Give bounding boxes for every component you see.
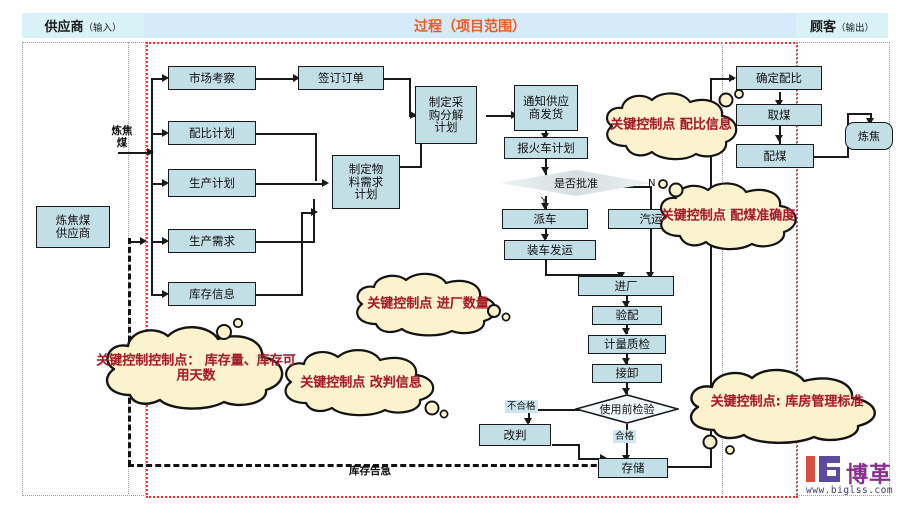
node-label: 生产计划 [189,177,235,190]
node-dispatch-vehicle[interactable]: 派车 [502,209,588,229]
cloud-text: 关键控制点: 库房管理标准 [680,395,894,410]
cloud-inventory-levels: 关键控制控制点： 库存量、库存可 用天数 [96,325,296,413]
cloud-text: 关键控制点 配煤准确度 [650,208,806,223]
node-label: 库存信息 [189,288,235,301]
arrow-icon [322,179,329,187]
node-load-and-ship[interactable]: 装车发运 [504,240,596,260]
node-material-requirement-plan[interactable]: 制定物 料需求 计划 [332,155,400,209]
node-production-plan[interactable]: 生产计划 [168,169,256,197]
node-label: 炼焦煤 供应商 [56,214,91,240]
node-enter-plant[interactable]: 进厂 [578,276,674,296]
node-label: 接卸 [616,367,639,380]
connector [301,212,303,296]
lane-header-supplier: 供应商（输入） [22,13,144,38]
logo-glyph-icon [806,455,842,483]
arrow-icon [729,74,736,82]
node-storage[interactable]: 存储 [598,458,668,478]
node-sign-order[interactable]: 签订订单 [298,66,384,90]
flow-label-coking-coal: 炼焦 煤 [104,126,140,149]
node-label: 炼焦 [858,128,880,144]
node-verify-mix[interactable]: 验配 [592,306,662,325]
branch-label-yes: Y [541,196,547,207]
node-label: 验配 [616,309,639,322]
node-label: 计量质检 [604,338,650,351]
connector [130,241,142,243]
node-label: 通知供应 商发货 [523,95,569,121]
cloud-blend-accuracy: 关键控制点 配煤准确度 [650,180,806,252]
lane-header-process: 过程（项目范围） [144,13,796,38]
node-production-requirement[interactable]: 生产需求 [168,229,256,253]
arrow-icon [622,328,630,335]
connector [315,133,317,181]
node-pre-use-inspection[interactable]: 使用前检验 [575,394,679,424]
node-blend-coal[interactable]: 配煤 [736,144,814,168]
node-stock-info[interactable]: 库存信息 [168,282,256,306]
node-label: 取煤 [768,109,791,122]
connector [578,444,580,459]
connector [847,113,872,115]
lane-header-customer: 顾客（输出） [796,13,888,38]
node-label: 报火车计划 [517,142,575,155]
connector [255,183,325,185]
flow-label-stock-alert: 库存告急 [330,466,410,478]
node-label: 签订订单 [318,72,364,85]
node-label: 确定配比 [756,72,802,85]
branch-label-fail: 不合格 [505,400,538,413]
node-label: 装车发运 [527,244,573,257]
connector [400,166,422,168]
connector [812,156,849,158]
node-ratio-plan[interactable]: 配比计划 [168,121,256,145]
lane-header-customer-title: 顾客（输出） [810,16,874,35]
node-label: 配煤 [764,150,787,163]
cloud-inbound-quantity: 关键控制点 进厂数量 [348,272,508,338]
cloud-warehouse-standard: 关键控制点: 库房管理标准 [680,368,894,446]
node-label: 使用前检验 [600,401,655,417]
connector [255,78,296,80]
arrow-icon [311,208,318,216]
node-label: 市场考察 [189,72,235,85]
connector [668,466,712,468]
connector [552,444,579,446]
node-train-plan[interactable]: 报火车计划 [504,137,588,159]
logo-url: www.biglss.com [806,485,893,496]
node-purchase-breakdown-plan[interactable]: 制定采 购分解 计划 [415,86,477,144]
node-notify-supplier-ship[interactable]: 通知供应 商发货 [514,85,578,131]
node-label: 配比计划 [189,127,235,140]
node-label: 制定采 购分解 计划 [429,96,464,135]
node-label: 进厂 [615,280,638,293]
connector [255,133,317,135]
node-supplier-box[interactable]: 炼焦煤 供应商 [36,206,110,248]
node-market-survey[interactable]: 市场考察 [168,66,256,90]
node-label: 改判 [504,429,527,442]
node-label: 制定物 料需求 计划 [349,163,384,202]
cloud-text: 关键控制点 进厂数量 [348,296,508,311]
process-flow-diagram: 供应商（输入） 过程（项目范围） 顾客（输出） [0,0,910,515]
connector [255,241,315,243]
cloud-text: 关键控制点 改判信息 [276,375,446,390]
branch-label-pass: 合格 [613,430,636,443]
node-label: 生产需求 [189,235,235,248]
connector [313,199,315,242]
cloud-text: 关键控制控制点： 库存量、库存可 用天数 [96,354,296,385]
brand-logo: 博革 www.biglss.com [806,455,906,505]
connector [118,152,150,154]
node-label: 是否批准 [554,175,598,191]
arrow-icon [775,135,783,142]
connector [151,78,153,296]
cloud-text: 关键控制点 配比信息 [596,117,746,132]
node-take-coal[interactable]: 取煤 [736,104,822,126]
connector [545,258,547,275]
node-approve-decision[interactable]: 是否批准 [500,170,652,196]
node-unload[interactable]: 接卸 [592,364,662,383]
connector [486,115,514,117]
node-label: 存储 [622,462,645,475]
connector [384,78,411,80]
node-rejudge[interactable]: 改判 [479,424,551,446]
cloud-rejudge-info: 关键控制点 改判信息 [276,348,446,418]
node-confirm-ratio[interactable]: 确定配比 [736,66,822,90]
lane-header-process-title: 过程（项目范围） [414,16,526,36]
lane-header-supplier-title: 供应商（输入） [44,16,121,35]
node-label: 派车 [534,213,557,226]
connector [255,294,303,296]
cloud-ratio-info: 关键控制点 配比信息 [596,90,746,162]
node-coking[interactable]: 炼焦 [845,122,893,150]
node-measure-quality-check[interactable]: 计量质检 [588,335,666,354]
